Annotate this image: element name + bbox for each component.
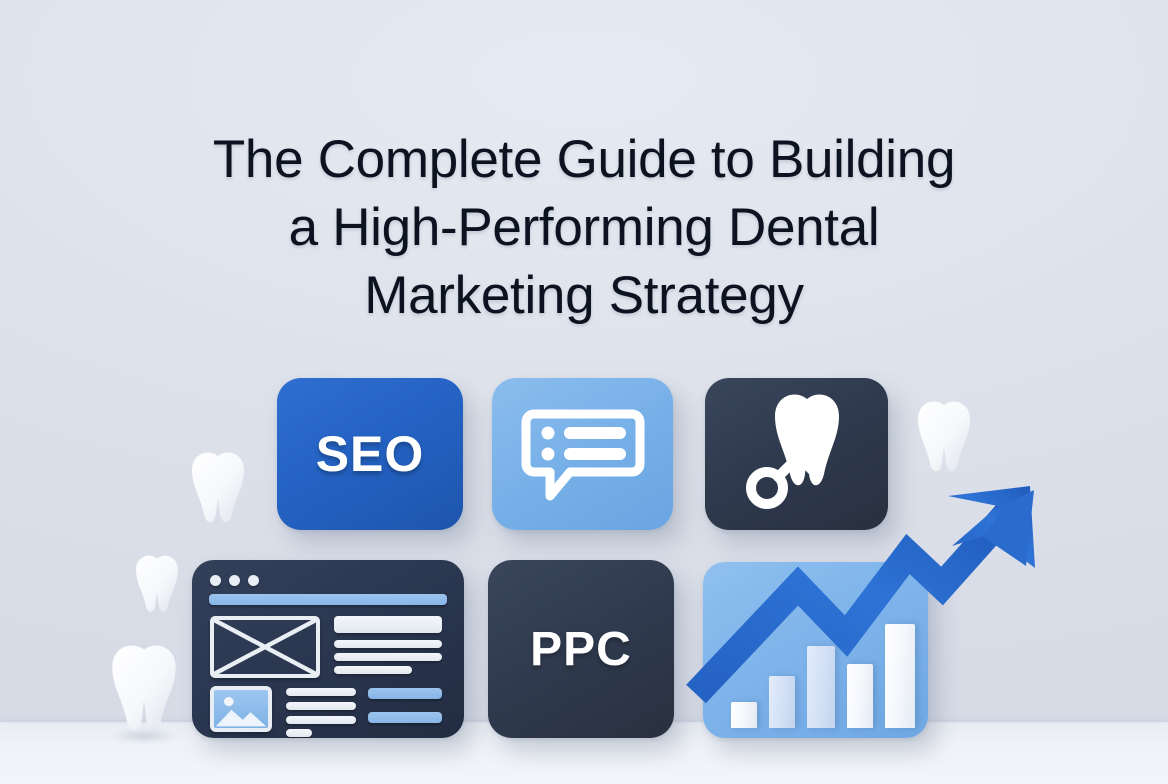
text-line: [334, 616, 442, 633]
text-line: [286, 688, 356, 696]
growth-arrow-icon: [690, 450, 1040, 735]
window-dot-3: [248, 575, 259, 586]
text-line: [286, 702, 356, 710]
chat-card[interactable]: [492, 378, 673, 530]
hero-illustration: The Complete Guide to Building a High-Pe…: [0, 0, 1168, 784]
tooth-bottom-left: [100, 640, 188, 740]
tooth-mid-left: [128, 552, 186, 618]
website-wireframe-card[interactable]: [192, 560, 464, 738]
chat-bubble-list-icon: [492, 378, 673, 530]
ppc-card-label: PPC: [488, 560, 674, 738]
tooth-shadow: [96, 728, 192, 744]
window-dot-1: [210, 575, 221, 586]
text-line: [334, 640, 442, 648]
page-title: The Complete Guide to Building a High-Pe…: [0, 126, 1168, 330]
window-dot-2: [229, 575, 240, 586]
tooth-top-left: [182, 448, 254, 530]
text-line: [286, 716, 356, 724]
ppc-card[interactable]: PPC: [488, 560, 674, 738]
accent-bar: [368, 688, 442, 699]
seo-card[interactable]: SEO: [277, 378, 463, 530]
seo-card-label: SEO: [277, 378, 463, 530]
text-line: [334, 653, 442, 661]
photo-thumbnail: [210, 686, 272, 732]
text-line: [286, 729, 312, 737]
header-accent-bar: [209, 594, 447, 605]
image-placeholder-crossed-box: [210, 616, 320, 678]
text-line: [334, 666, 412, 674]
accent-bar: [368, 712, 442, 723]
